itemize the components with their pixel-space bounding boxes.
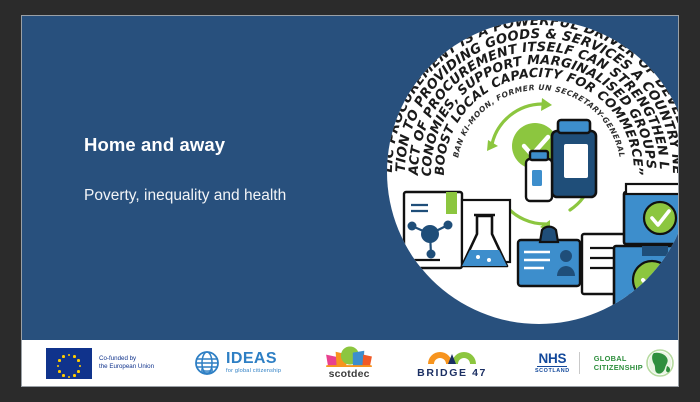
nhs-rule: [537, 366, 567, 367]
nhs-scotland-logo: NHS SCOTLAND: [535, 346, 580, 380]
nhs-text-wrap: NHS SCOTLAND: [535, 352, 570, 375]
bridge-arches-icon: [425, 346, 479, 365]
molecule-document-icon: [404, 192, 462, 268]
logo-divider: [579, 352, 580, 374]
eu-flag-icon: [46, 348, 92, 379]
global-citizenship-line2: CITIZENSHIP: [594, 363, 643, 372]
partner-logo-band: Co-funded by the European Union IDEAS fo…: [22, 340, 678, 386]
global-citizenship-text: GLOBAL CITIZENSHIP: [594, 354, 643, 373]
slide-content-area: Home and away Poverty, inequality and he…: [22, 16, 678, 340]
ideas-text: IDEAS for global citizenship: [226, 351, 281, 375]
eu-cofunded-logo: Co-funded by the European Union: [46, 346, 154, 380]
ideas-main-text: IDEAS: [226, 351, 281, 367]
eu-cofunded-line1: Co-funded by: [99, 355, 154, 363]
quote-circle-graphic: “PUBLIC PROCUREMENT IS A POWERFUL DRIVER…: [374, 16, 678, 324]
ideas-sub-text: for global citizenship: [226, 367, 281, 375]
title-block: Home and away Poverty, inequality and he…: [84, 134, 384, 206]
globe-icon: [192, 348, 222, 378]
page-title: Home and away: [84, 134, 384, 156]
nhs-main-text: NHS: [539, 352, 567, 366]
shipping-box-check-icon: [624, 184, 678, 244]
slide-viewer-frame: Home and away Poverty, inequality and he…: [0, 0, 700, 402]
bridge-47-logo: BRIDGE 47: [417, 346, 487, 380]
eu-cofunded-line2: the European Union: [99, 363, 154, 371]
eu-cofunded-text: Co-funded by the European Union: [99, 355, 154, 372]
flask-icon: [462, 200, 510, 266]
shipping-box-check-icon: [614, 246, 678, 308]
scotdec-text: scotdec: [329, 368, 370, 380]
global-citizenship-line1: GLOBAL: [594, 354, 643, 363]
page-subtitle: Poverty, inequality and health: [84, 156, 384, 205]
global-citizenship-logo: GLOBAL CITIZENSHIP: [594, 346, 677, 380]
bridge-47-text: BRIDGE 47: [417, 367, 487, 379]
ideas-logo: IDEAS for global citizenship: [192, 346, 281, 380]
green-globe-icon: [643, 348, 677, 378]
presentation-slide: Home and away Poverty, inequality and he…: [22, 16, 678, 386]
nhs-sub-text: SCOTLAND: [535, 368, 570, 374]
scotdec-mark-icon: [323, 346, 375, 367]
scotdec-logo: scotdec: [323, 346, 375, 380]
